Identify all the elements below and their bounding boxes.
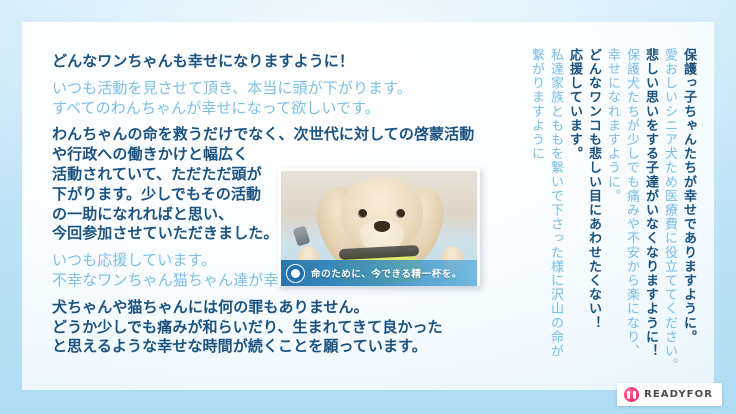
readyfor-wordmark: READYFOR bbox=[644, 389, 713, 400]
vertical-line: どんなワンコも悲しい目にあわせたくない！ bbox=[584, 48, 603, 384]
dog-leash-clip-shape bbox=[293, 225, 311, 246]
organization-seal-icon bbox=[286, 264, 305, 283]
readyfor-logo-icon bbox=[624, 387, 639, 402]
vertical-line: 応援しています。 bbox=[565, 48, 584, 384]
photo-caption-text: 命のために、今できる精一杯を。 bbox=[311, 266, 462, 280]
vertical-line: 悲しい思いをする子達がいなくなりますように！ bbox=[641, 48, 660, 384]
vertical-line: 幸せになれますように。 bbox=[603, 48, 622, 384]
dog-eye-left-shape bbox=[358, 209, 367, 218]
vertical-line: 繋がりますように bbox=[527, 48, 546, 384]
message-line: や行政への働きかけと幅広く bbox=[52, 145, 502, 165]
dog-eye-right-shape bbox=[396, 209, 405, 218]
vertical-line: 愛おしいシニア犬ため医療費に役立ててください。 bbox=[660, 48, 679, 384]
photo-image: 命のために、今できる精一杯を。 bbox=[281, 171, 477, 286]
message-line: すべてのわんちゃんが幸せになって欲しいです。 bbox=[52, 99, 502, 119]
message-block-5: 犬ちゃんや猫ちゃんには何の罪もありません。 どうか少しでも痛みが和らいだり、生ま… bbox=[52, 298, 502, 357]
message-line: 犬ちゃんや猫ちゃんには何の罪もありません。 bbox=[52, 298, 502, 318]
readyfor-badge[interactable]: READYFOR bbox=[617, 383, 722, 406]
dog-nose-shape bbox=[374, 221, 390, 232]
message-line: と思えるような幸せな時間が続くことを願っています。 bbox=[52, 337, 502, 357]
vertical-line: 保護っ子ちゃんたちが幸せでありますように。 bbox=[679, 48, 698, 384]
message-line: わんちゃんの命を救うだけでなく、次世代に対しての啓蒙活動 bbox=[52, 125, 502, 145]
vertical-line: 保護犬たちが少しでも痛みや不安から楽になり、 bbox=[622, 48, 641, 384]
content-card: どんなワンちゃんも幸せになりますように！ いつも活動を見させて頂き、本当に頭が下… bbox=[22, 22, 714, 390]
vertical-line: 私達家族とももを繋いで下さった様に沢山の命が bbox=[546, 48, 565, 384]
message-block-2: いつも活動を見させて頂き、本当に頭が下がります。 すべてのわんちゃんが幸せになっ… bbox=[52, 79, 502, 119]
message-line: どうか少しでも痛みが和らいだり、生まれてきて良かった bbox=[52, 318, 502, 338]
photo-caption-bar: 命のために、今できる精一杯を。 bbox=[281, 260, 477, 286]
message-line: いつも活動を見させて頂き、本当に頭が下がります。 bbox=[52, 79, 502, 99]
rescue-dog-photo: 命のために、今できる精一杯を。 bbox=[278, 168, 480, 286]
dog-head-shape bbox=[341, 177, 423, 251]
message-block-1: どんなワンちゃんも幸せになりますように！ bbox=[52, 52, 502, 72]
vertical-message-column: 保護っ子ちゃんたちが幸せでありますように。 愛おしいシニア犬ため医療費に役立てて… bbox=[527, 48, 698, 388]
screenshot-root: どんなワンちゃんも幸せになりますように！ いつも活動を見させて頂き、本当に頭が下… bbox=[0, 0, 736, 414]
message-line: どんなワンちゃんも幸せになりますように！ bbox=[52, 52, 502, 72]
